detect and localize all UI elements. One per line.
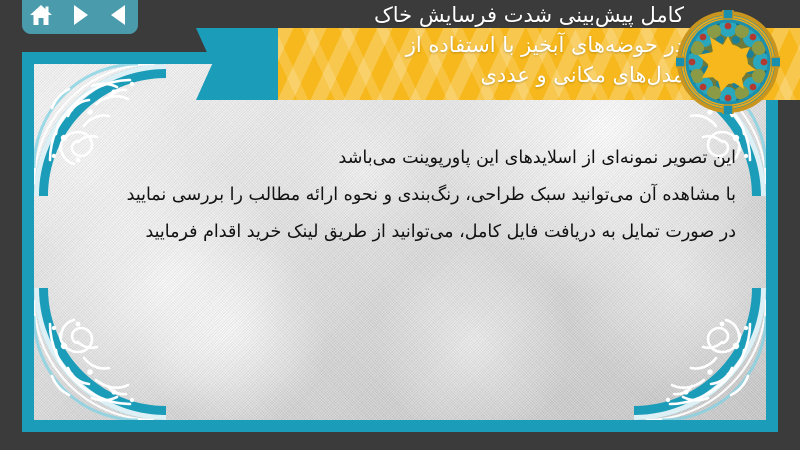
body-line-1: این تصویر نمونه‌ای از اسلایدهای این پاور…	[76, 140, 736, 177]
slide-frame: این تصویر نمونه‌ای از اسلایدهای این پاور…	[22, 52, 778, 432]
slide-title: کامل پیش‌بینی شدت فرسایش خاک در حوضه‌های…	[164, 0, 684, 90]
slide-viewer: این تصویر نمونه‌ای از اسلایدهای این پاور…	[0, 0, 800, 450]
back-arrow-icon	[109, 4, 129, 26]
corner-ornament-bottom-left	[34, 288, 166, 420]
home-icon	[29, 4, 53, 27]
body-line-3: در صورت تمایل به دریافت فایل کامل، می‌تو…	[76, 214, 736, 251]
title-line-1: کامل پیش‌بینی شدت فرسایش خاک	[164, 0, 684, 30]
home-button[interactable]	[26, 1, 56, 29]
body-line-2: با مشاهده آن می‌توانید سبک طراحی، رنگ‌بن…	[76, 177, 736, 214]
forward-arrow-icon	[70, 4, 90, 26]
title-line-3: مدل‌های مکانی و عددی	[164, 60, 684, 90]
back-button[interactable]	[104, 1, 134, 29]
navigation-panel	[22, 0, 138, 34]
title-line-2: در حوضه‌های آبخیز با استفاده از	[164, 30, 684, 60]
mandala-medallion-icon	[676, 10, 780, 114]
forward-button[interactable]	[65, 1, 95, 29]
slide-canvas: این تصویر نمونه‌ای از اسلایدهای این پاور…	[34, 64, 766, 420]
corner-ornament-bottom-right	[634, 288, 766, 420]
slide-body-text: این تصویر نمونه‌ای از اسلایدهای این پاور…	[76, 140, 736, 251]
